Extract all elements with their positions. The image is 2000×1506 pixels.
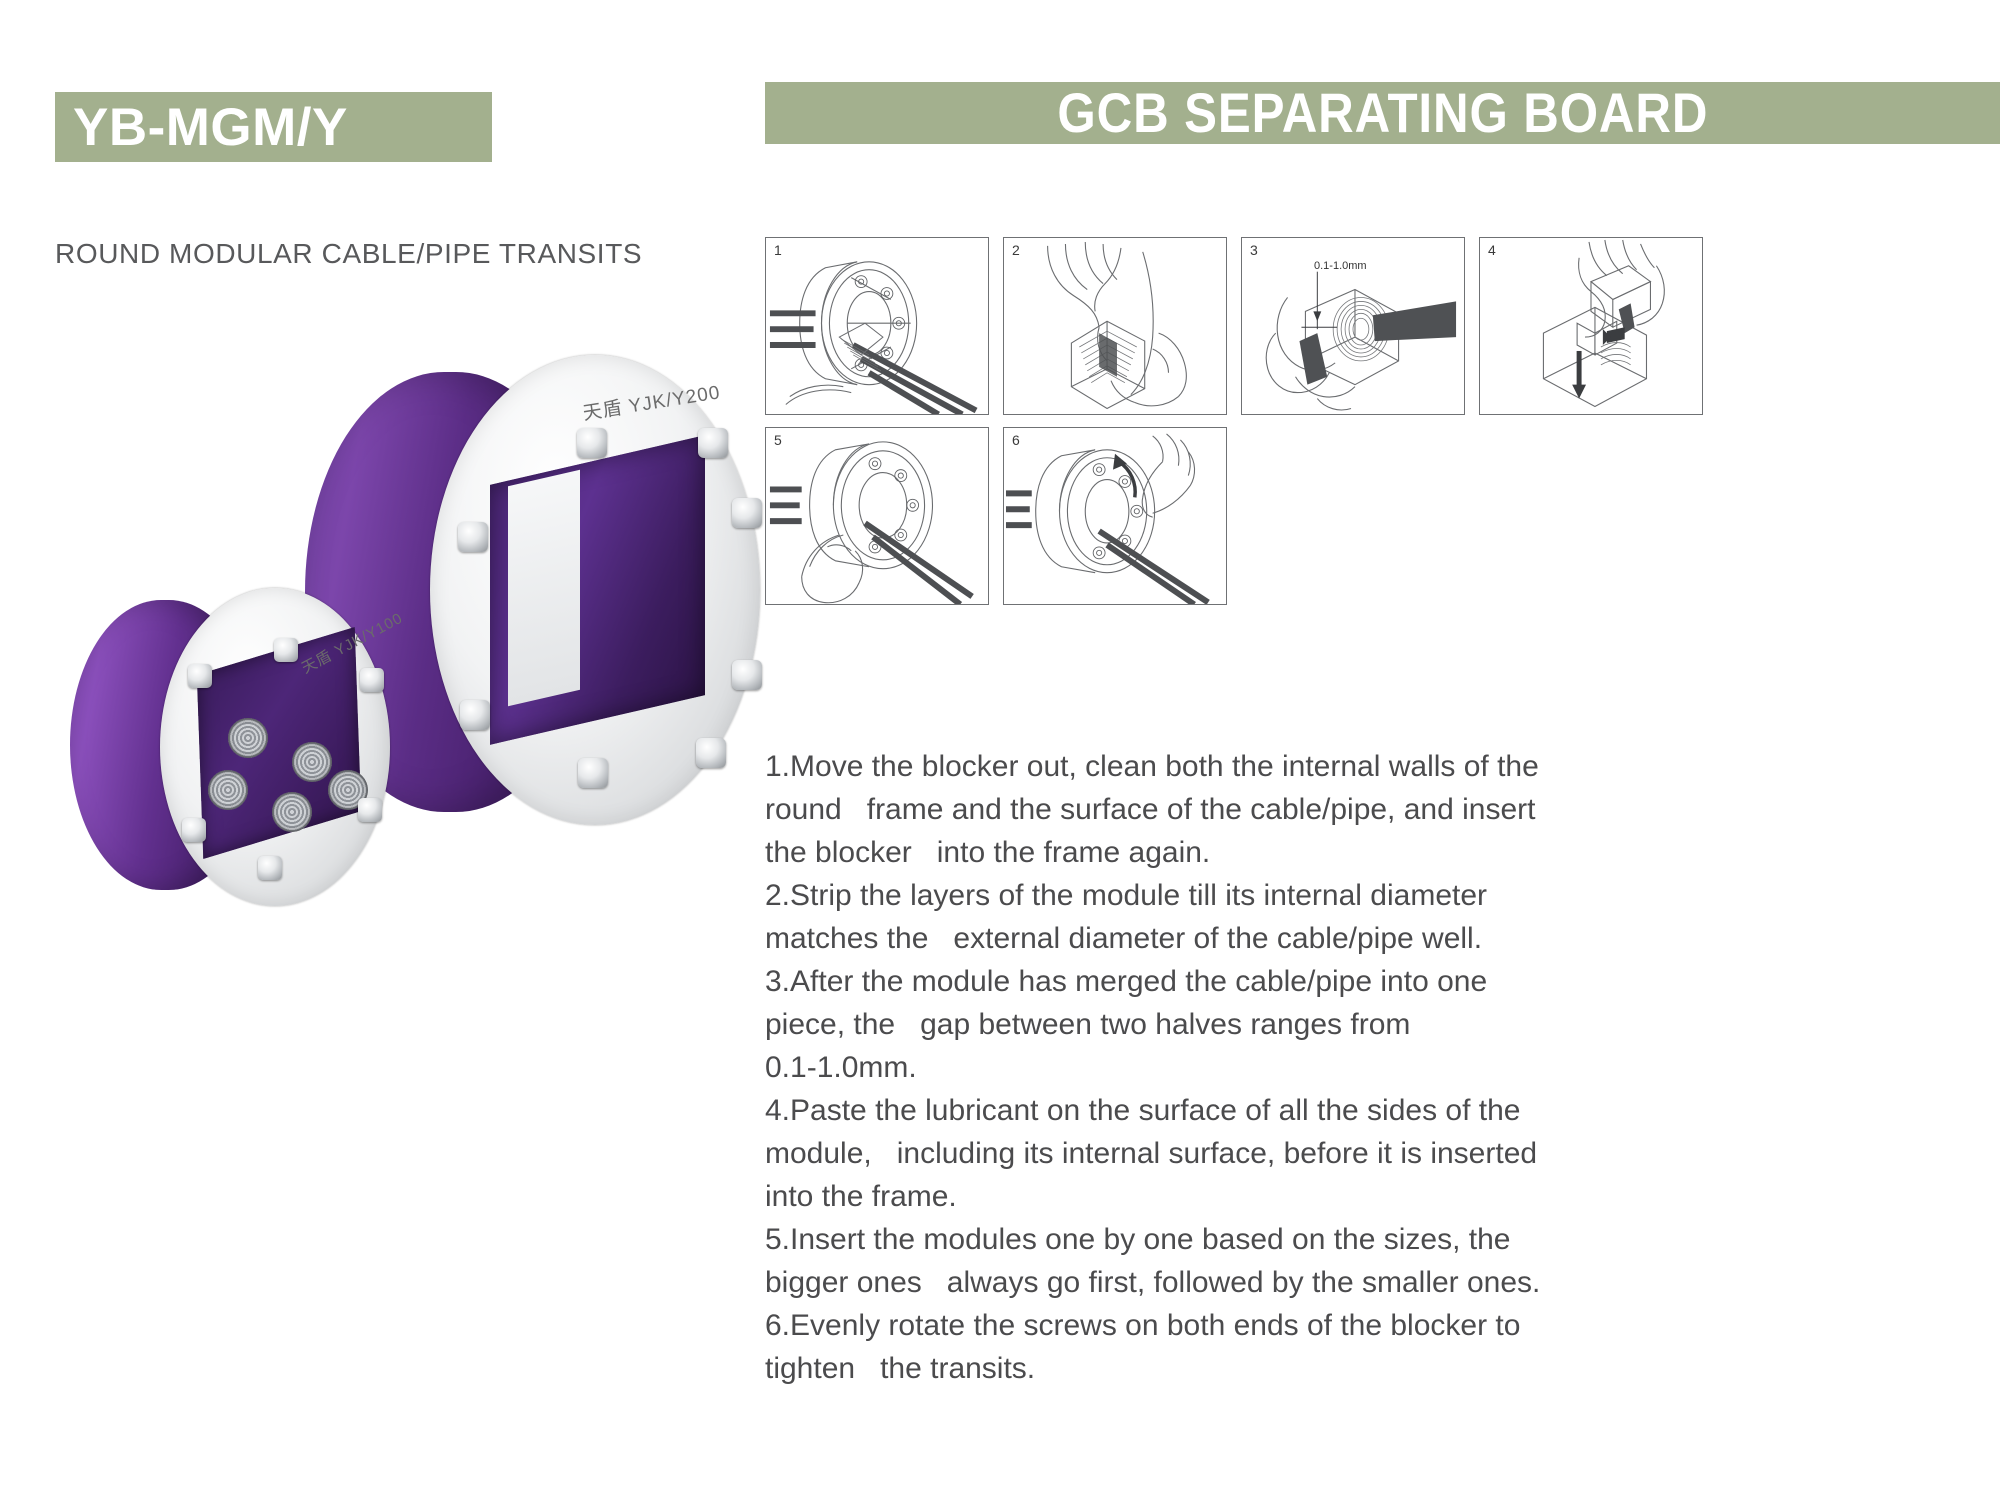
bolt — [577, 428, 607, 458]
step-number: 6 — [1012, 432, 1020, 448]
instruction-line: 1.Move the blocker out, clean both the i… — [765, 745, 1785, 788]
step-number: 4 — [1488, 242, 1496, 258]
steps-row-2: 5 — [765, 427, 2000, 605]
instruction-line: matches the external diameter of the cab… — [765, 917, 1785, 960]
instructions-block: 1.Move the blocker out, clean both the i… — [765, 745, 1785, 1390]
step-panel-4: 4 — [1479, 237, 1703, 415]
product-subtitle: ROUND MODULAR CABLE/PIPE TRANSITS — [55, 238, 642, 270]
instruction-line: 6.Evenly rotate the screws on both ends … — [765, 1304, 1785, 1347]
instruction-line: 3.After the module has merged the cable/… — [765, 960, 1785, 1003]
step-4-illustration — [1480, 238, 1702, 414]
step-number: 2 — [1012, 242, 1020, 258]
instruction-line: 2.Strip the layers of the module till it… — [765, 874, 1785, 917]
instruction-line: 0.1-1.0mm. — [765, 1046, 1785, 1089]
step-panel-5: 5 — [765, 427, 989, 605]
step-panel-2: 2 — [1003, 237, 1227, 415]
bolt — [458, 522, 488, 552]
section-banner-title: GCB SEPARATING BOARD — [1057, 85, 1708, 141]
module-hole — [292, 742, 332, 782]
instruction-line: round frame and the surface of the cable… — [765, 788, 1785, 831]
instruction-line: piece, the gap between two halves ranges… — [765, 1003, 1785, 1046]
bolt — [732, 660, 762, 690]
step-number: 5 — [774, 432, 782, 448]
bolt — [258, 856, 282, 880]
step-number: 3 — [1250, 242, 1258, 258]
module-hole — [208, 770, 248, 810]
gap-dimension-label: 0.1-1.0mm — [1314, 260, 1367, 272]
instruction-line: tighten the transits. — [765, 1347, 1785, 1390]
step-panel-6: 6 — [1003, 427, 1227, 605]
bolt — [696, 738, 726, 768]
bolt — [188, 664, 212, 688]
instruction-line: module, including its internal surface, … — [765, 1132, 1785, 1175]
bolt — [460, 700, 490, 730]
step-panel-3: 3 0.1-1.0mm — [1241, 237, 1465, 415]
module-hole — [272, 792, 312, 832]
bolt — [274, 638, 298, 662]
bolt — [182, 818, 206, 842]
instruction-line: bigger ones always go first, followed by… — [765, 1261, 1785, 1304]
step-number: 1 — [774, 242, 782, 258]
bolt — [578, 758, 608, 788]
instruction-line: 5.Insert the modules one by one based on… — [765, 1218, 1785, 1261]
step-6-illustration — [1004, 428, 1226, 604]
large-transit-blocker — [508, 470, 580, 707]
steps-row-1: 1 — [765, 237, 2000, 415]
section-banner: GCB SEPARATING BOARD — [765, 82, 2000, 144]
instruction-line: into the frame. — [765, 1175, 1785, 1218]
steps-grid: 1 — [765, 237, 2000, 617]
bolt — [360, 668, 384, 692]
instruction-line: the blocker into the frame again. — [765, 831, 1785, 874]
model-badge: YB-MGM/Y — [55, 92, 492, 162]
right-column: GCB SEPARATING BOARD 1 — [980, 0, 2000, 1506]
step-panel-1: 1 — [765, 237, 989, 415]
step-2-illustration — [1004, 238, 1226, 414]
bolt — [732, 498, 762, 528]
module-hole — [228, 718, 268, 758]
model-badge-label: YB-MGM/Y — [55, 101, 348, 154]
step-1-illustration — [766, 238, 988, 414]
bolt — [698, 428, 728, 458]
instruction-line: 4.Paste the lubricant on the surface of … — [765, 1089, 1785, 1132]
step-5-illustration — [766, 428, 988, 604]
bolt — [358, 798, 382, 822]
